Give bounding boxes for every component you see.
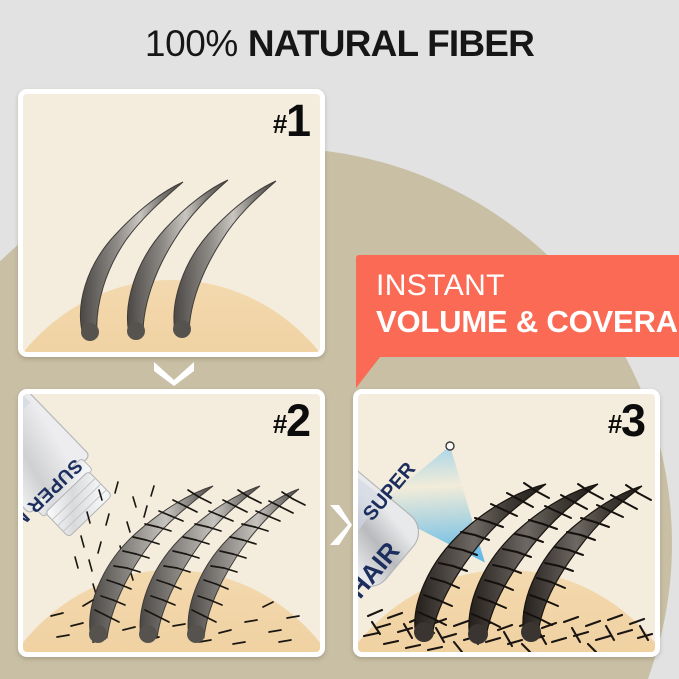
arrow-down-step1-to-step2 bbox=[152, 360, 196, 386]
panel-number-hash: # bbox=[608, 409, 621, 439]
callout-line-instant: INSTANT bbox=[376, 269, 671, 303]
chevron-down-icon bbox=[152, 360, 196, 386]
panel-number-hash: # bbox=[273, 109, 286, 139]
hair-strand bbox=[523, 486, 642, 636]
scalp-fibers bbox=[51, 600, 299, 644]
step-panel-2: SUPER MILLION bbox=[18, 389, 325, 657]
hair-strand bbox=[173, 181, 276, 338]
panel-number-2: #2 bbox=[273, 398, 311, 443]
hair-root bbox=[139, 625, 157, 643]
title-natural-fiber: NATURAL FIBER bbox=[248, 23, 534, 64]
panel-number-value: 2 bbox=[286, 395, 310, 446]
step-panel-3: SUPER HAIR bbox=[353, 389, 660, 657]
page-title: 100% NATURAL FIBER bbox=[0, 22, 679, 66]
title-percent: 100% bbox=[145, 23, 238, 64]
callout-tail bbox=[356, 357, 380, 388]
hair-root bbox=[89, 625, 107, 643]
panel-number-value: 3 bbox=[621, 395, 645, 446]
arrow-right-step2-to-step3 bbox=[328, 503, 352, 547]
hair-root bbox=[187, 625, 205, 643]
panel-number-3: #3 bbox=[608, 398, 646, 443]
hair-root bbox=[468, 624, 488, 644]
hair-root bbox=[414, 622, 434, 642]
panel-number-value: 1 bbox=[286, 95, 310, 146]
scalp-fiber-mat bbox=[364, 610, 652, 652]
chevron-right-icon bbox=[328, 503, 352, 547]
callout-line-volume-coverage: VOLUME & COVERAGE bbox=[376, 303, 671, 341]
panel-number-hash: # bbox=[273, 409, 286, 439]
hair-root bbox=[521, 622, 541, 642]
infographic-canvas: 100% NATURAL FIBER bbox=[0, 0, 679, 679]
callout-banner: INSTANT VOLUME & COVERAGE bbox=[356, 255, 679, 357]
step-panel-1: #1 bbox=[18, 89, 325, 357]
panel-number-1: #1 bbox=[273, 98, 311, 143]
